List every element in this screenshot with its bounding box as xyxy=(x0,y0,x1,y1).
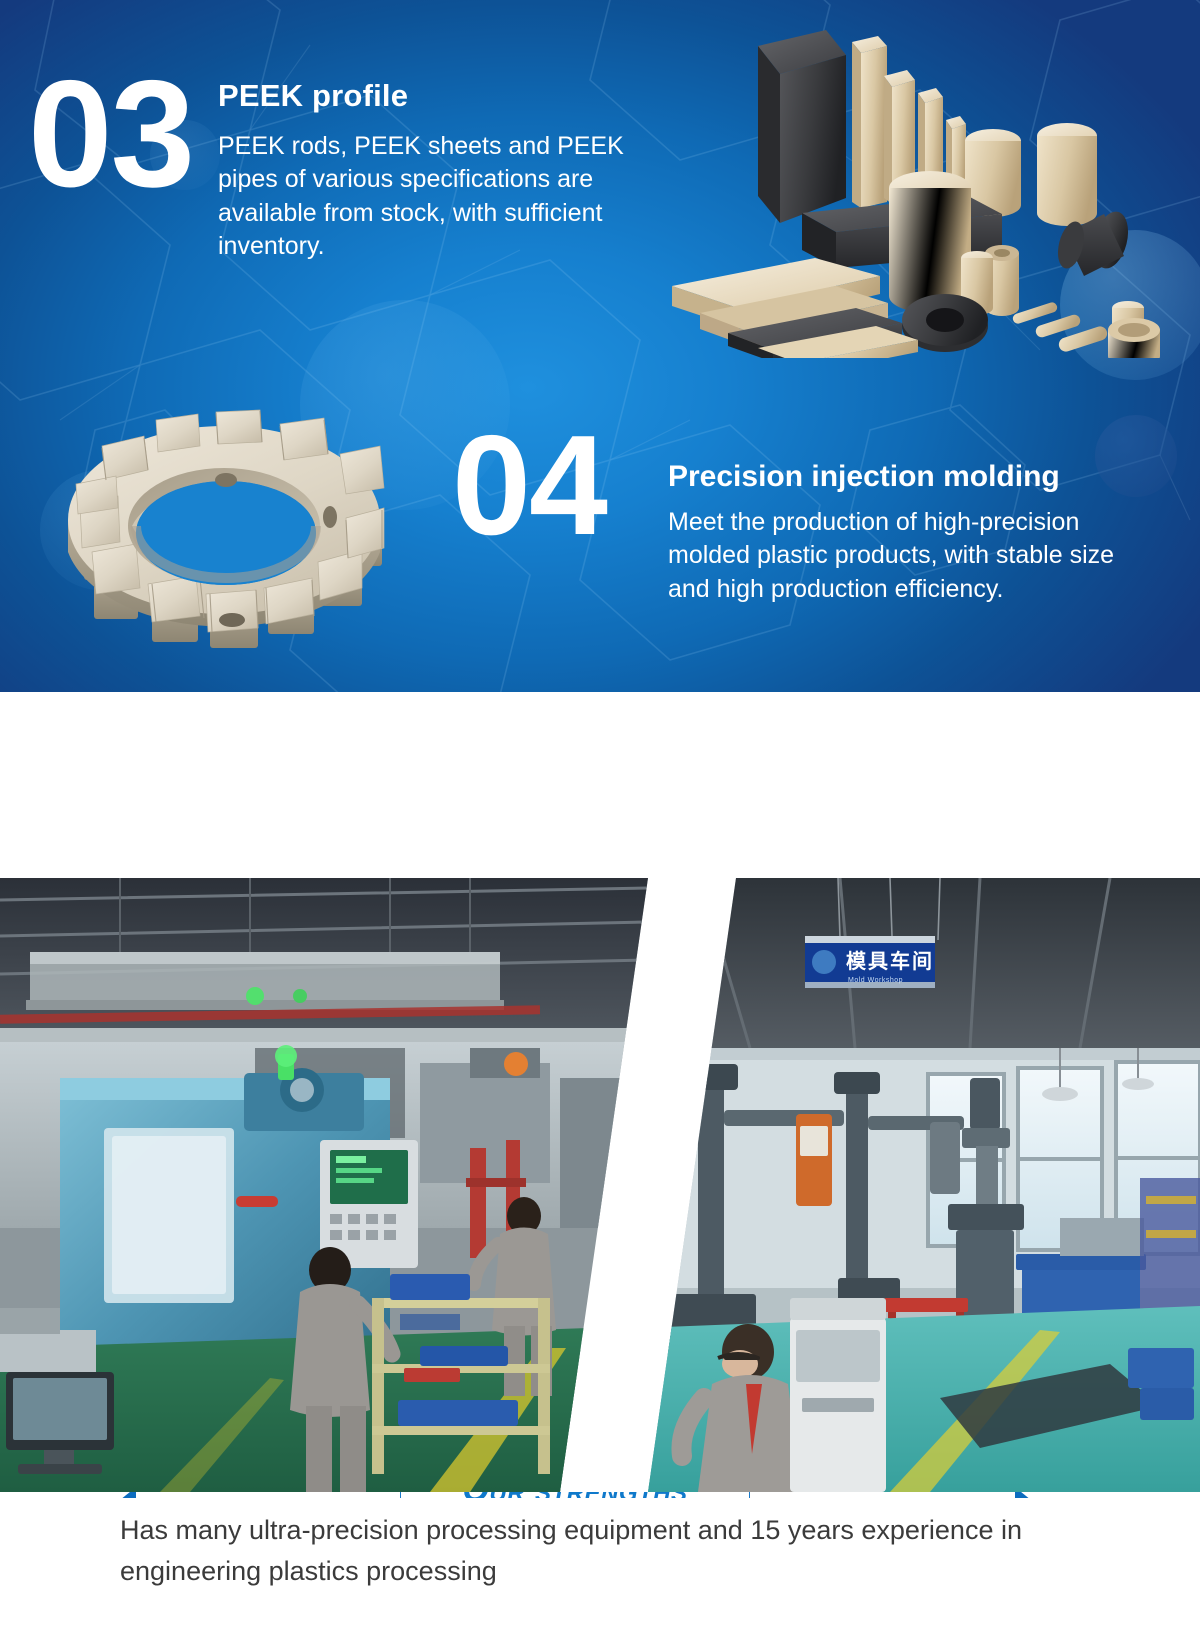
peek-products-illustration xyxy=(630,8,1190,358)
feature-body: Meet the production of high-precision mo… xyxy=(668,506,1116,606)
svg-text:Mold Workshop: Mold Workshop xyxy=(848,977,903,984)
marketing-page: 03 PEEK profile PEEK rods, PEEK sheets a… xyxy=(0,0,1200,1632)
caption-area: Has many ultra-precision processing equi… xyxy=(0,1498,1200,1632)
feature-block-03: 03 PEEK profile PEEK rods, PEEK sheets a… xyxy=(28,72,668,332)
feature-title: Precision injection molding xyxy=(668,460,1060,494)
photo-cnc-machining-workshop xyxy=(0,878,648,1492)
strengths-banner: Our strengths xyxy=(0,692,1200,878)
caption-text: Has many ultra-precision processing equi… xyxy=(120,1510,1100,1591)
peek-gear-ring-illustration xyxy=(40,392,410,662)
feature-body: PEEK rods, PEEK sheets and PEEK pipes of… xyxy=(218,130,668,263)
feature-block-04: 04 Precision injection molding Meet the … xyxy=(452,428,1172,658)
feature-title: PEEK profile xyxy=(218,78,408,114)
feature-number: 04 xyxy=(452,428,606,544)
workshop-photos: 模具车间 Mold Workshop xyxy=(0,878,1200,1492)
svg-text:模具车间: 模具车间 xyxy=(846,949,934,973)
hero-panel: 03 PEEK profile PEEK rods, PEEK sheets a… xyxy=(0,0,1200,692)
feature-number: 03 xyxy=(28,72,193,197)
photo-mold-workshop: 模具车间 Mold Workshop xyxy=(640,878,1200,1492)
